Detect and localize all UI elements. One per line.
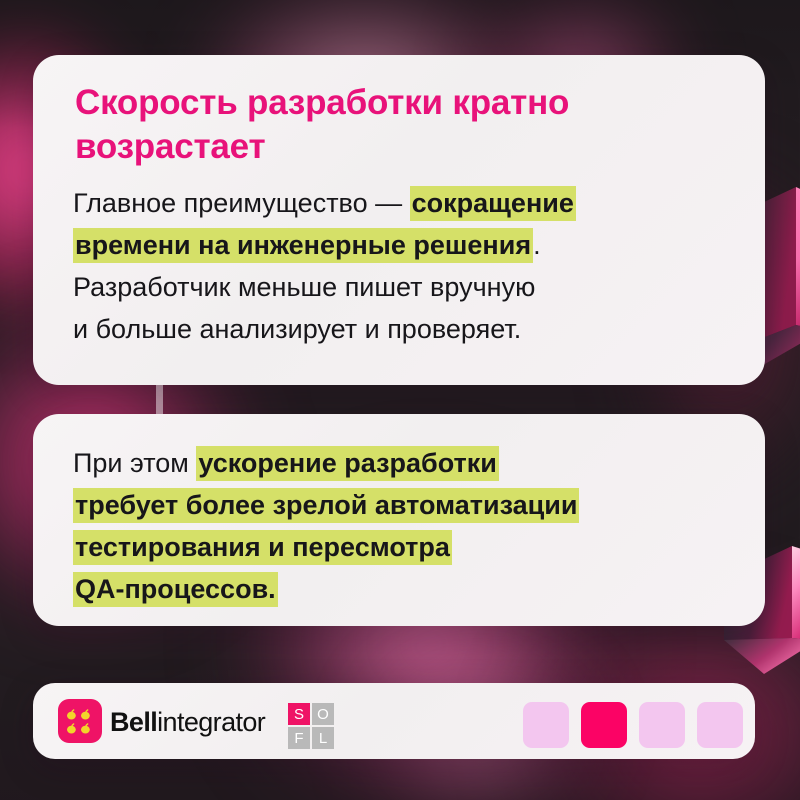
sofl-letter-f: F xyxy=(288,727,310,749)
brand-wordmark-light: integrator xyxy=(157,707,265,737)
body-line: и больше анализирует и проверяет. xyxy=(73,308,693,350)
highlighted-text: требует более зрелой автоматизации xyxy=(73,488,579,523)
body-line: времени на инженерные решения. xyxy=(73,224,693,266)
body-line: Главное преимущество — сокращение xyxy=(73,182,693,224)
body-line: QA-процессов. xyxy=(73,568,693,610)
color-swatch-row xyxy=(523,702,743,748)
sofl-letter-l: L xyxy=(312,727,334,749)
body-line: Разработчик меньше пишет вручную xyxy=(73,266,693,308)
highlighted-text: сокращение xyxy=(410,186,576,221)
highlighted-text: QA-процессов. xyxy=(73,572,278,607)
brand-wordmark: Bellintegrator xyxy=(110,707,265,738)
highlighted-text: ускорение разработки xyxy=(196,446,499,481)
swatch-4 xyxy=(697,702,743,748)
brand-wordmark-bold: Bell xyxy=(110,707,157,737)
sofl-letter-o: O xyxy=(312,703,334,725)
swatch-3 xyxy=(639,702,685,748)
sofl-letter-s: S xyxy=(288,703,310,725)
sofl-logo: S O F L xyxy=(288,703,334,749)
highlighted-text: времени на инженерные решения xyxy=(73,228,533,263)
body-text: При этом xyxy=(73,448,196,478)
primary-card-body: Главное преимущество — сокращениевремени… xyxy=(73,182,693,350)
body-text: и больше анализирует и проверяет. xyxy=(73,314,521,344)
body-line: требует более зрелой автоматизации xyxy=(73,484,693,526)
slide-canvas: Скорость разработки кратно возрастает Гл… xyxy=(0,0,800,800)
swatch-2 xyxy=(581,702,627,748)
body-line: тестирования и пересмотра xyxy=(73,526,693,568)
secondary-card-body: При этом ускорение разработкитребует бол… xyxy=(73,442,693,610)
bell-integrator-apples-logo xyxy=(58,699,102,743)
body-line: При этом ускорение разработки xyxy=(73,442,693,484)
body-text: . xyxy=(533,230,541,260)
card-connector xyxy=(156,383,163,417)
page-title: Скорость разработки кратно возрастает xyxy=(75,81,685,169)
highlighted-text: тестирования и пересмотра xyxy=(73,530,452,565)
body-text: Разработчик меньше пишет вручную xyxy=(73,272,535,302)
swatch-1 xyxy=(523,702,569,748)
body-text: Главное преимущество — xyxy=(73,188,410,218)
